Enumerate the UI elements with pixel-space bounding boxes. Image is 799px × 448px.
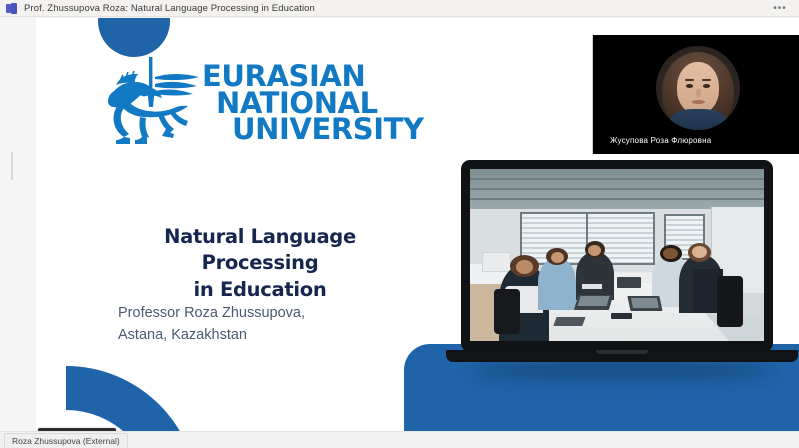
logo-line-3: UNIVERSITY — [202, 116, 424, 143]
more-options-button[interactable]: ••• — [770, 3, 790, 15]
window-title-text: Prof. Zhussupova Roza: Natural Language … — [24, 3, 315, 14]
presenter-status-chip[interactable]: Roza Zhussupova (External) — [4, 433, 128, 448]
decorative-circle-top — [98, 18, 170, 57]
slide-title: Natural Language Processing in Education — [104, 224, 416, 303]
presenter-avatar — [656, 46, 740, 130]
laptop-shadow — [474, 362, 770, 380]
slide-title-line-1: Natural Language Processing — [104, 224, 416, 277]
laptop-lid — [461, 160, 773, 352]
slide-subtitle-line-1: Professor Roza Zhussupova, — [118, 303, 418, 325]
slide-subtitle: Professor Roza Zhussupova, Astana, Kazak… — [118, 303, 418, 347]
university-logo-text: EURASIAN NATIONAL UNIVERSITY — [202, 63, 424, 143]
presenter-name-label: Жусупова Роза Флюровна — [610, 136, 711, 145]
laptop-notch — [596, 350, 648, 354]
window-title-bar: Prof. Zhussupova Roza: Natural Language … — [0, 0, 799, 17]
laptop-mockup — [446, 160, 798, 380]
teams-icon — [6, 3, 17, 14]
eurasian-horse-rider-logo-icon — [100, 55, 208, 151]
slide-subtitle-line-2: Astana, Kazakhstan — [118, 325, 418, 347]
university-logo: EURASIAN NATIONAL UNIVERSITY — [100, 55, 424, 151]
presenter-video-tile[interactable]: Жусупова Роза Флюровна — [592, 35, 799, 154]
presentation-work-area: EURASIAN NATIONAL UNIVERSITY Natural Lan… — [0, 17, 799, 431]
office-meeting-photo — [470, 169, 764, 341]
panel-resize-handle[interactable] — [11, 152, 13, 180]
slide-title-line-2: in Education — [104, 277, 416, 303]
